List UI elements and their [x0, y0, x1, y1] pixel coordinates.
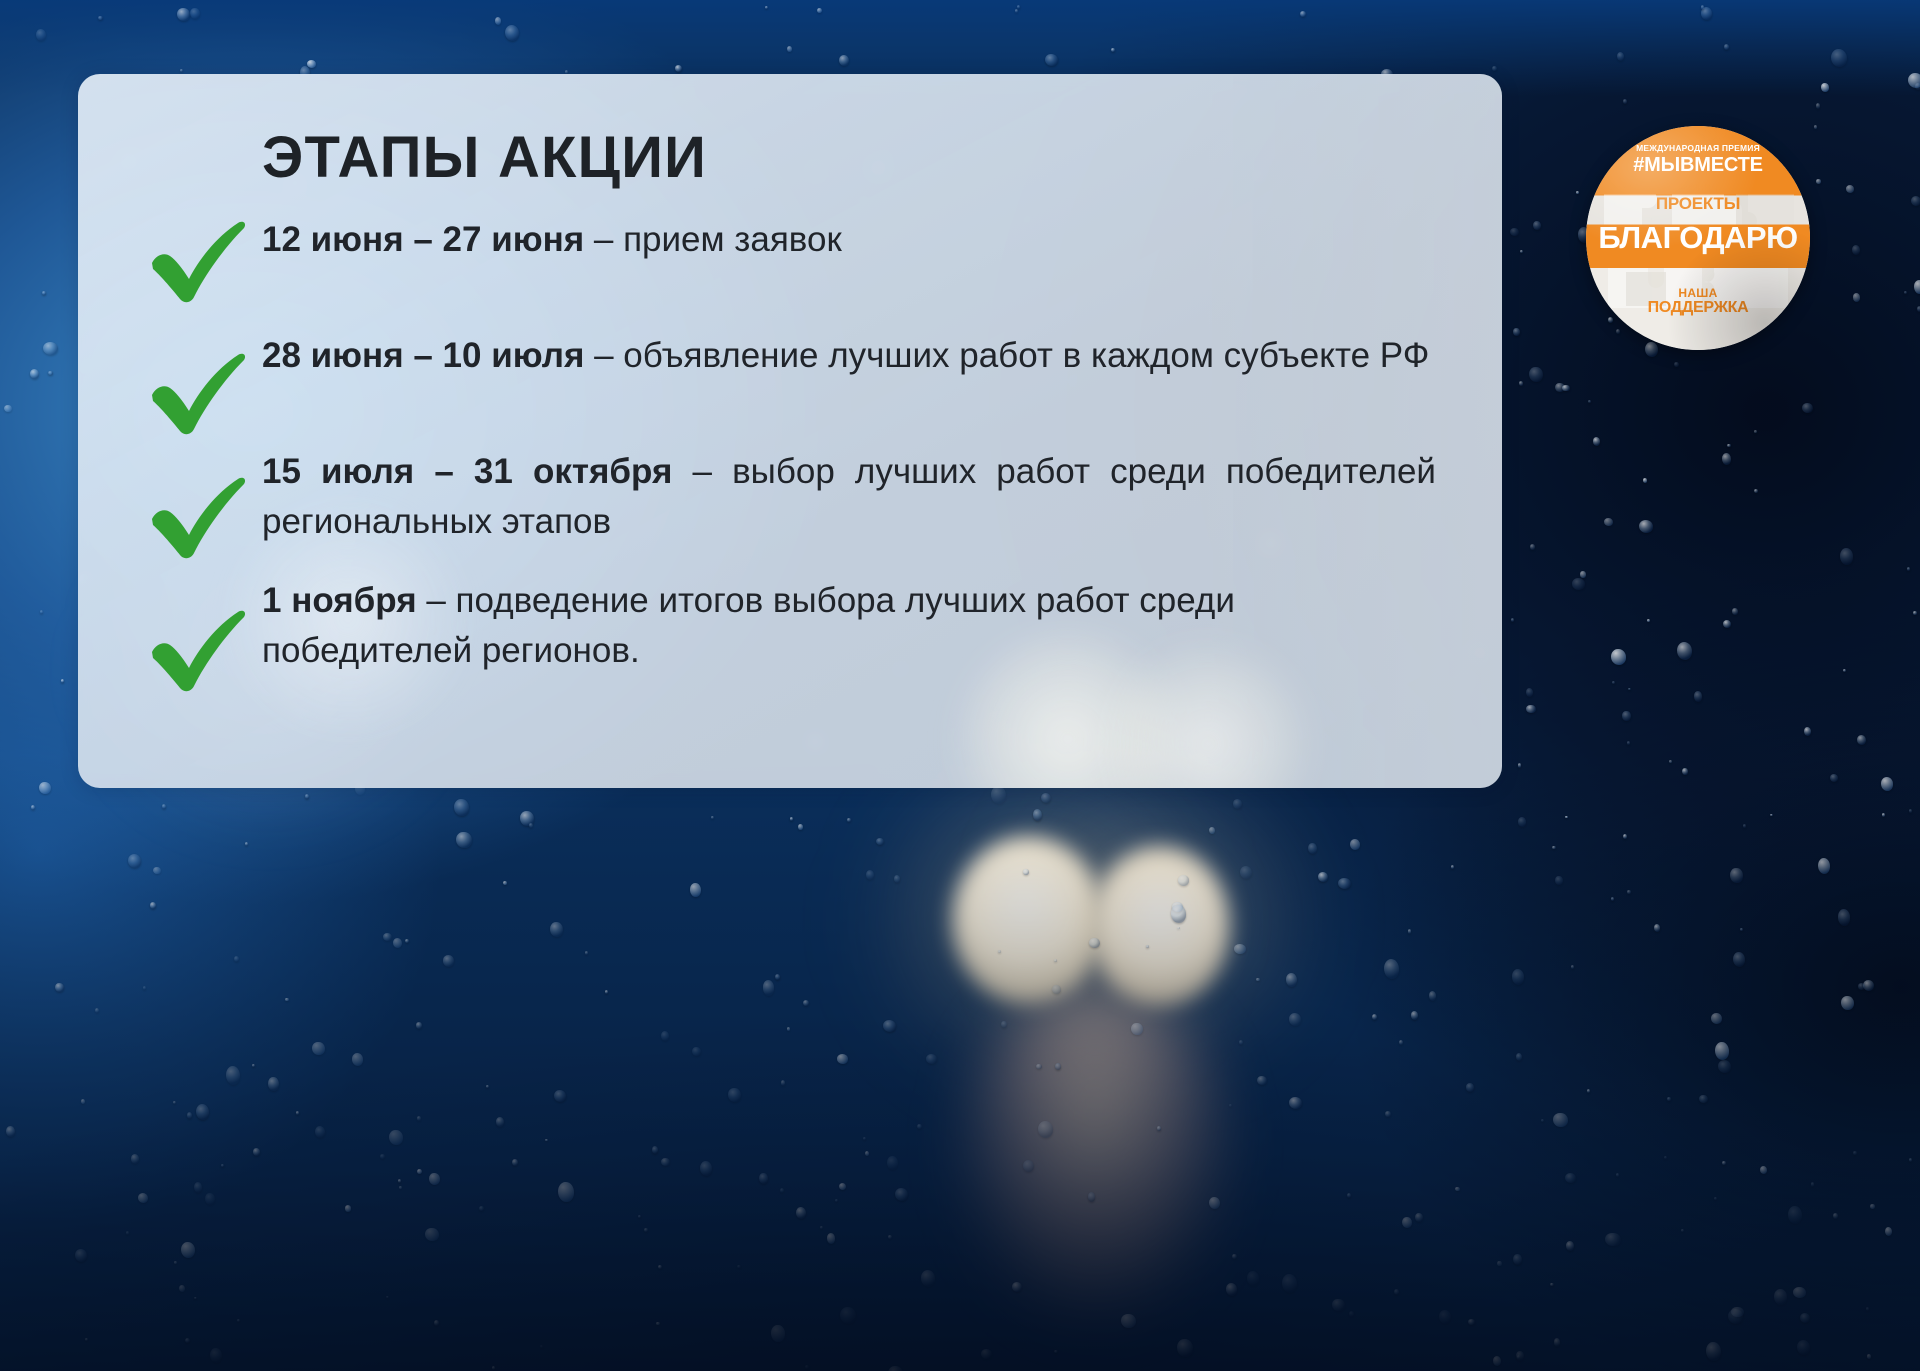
stages-list: 12 июня – 27 июня – прием заявок 28 июня… [140, 215, 1440, 676]
page-title: ЭТАПЫ АКЦИИ [262, 128, 1440, 189]
badge-premia-label: МЕЖДУНАРОДНАЯ ПРЕМИЯ [1586, 144, 1810, 153]
badge-proekty-label: ПРОЕКТЫ [1586, 195, 1810, 212]
badge-myvmeste-label: #МЫВМЕСТЕ [1586, 155, 1810, 175]
list-item-text: 1 ноября – подведение итогов выбора лучш… [262, 576, 1440, 675]
step-dates: 15 июля – 31 октября [262, 452, 672, 491]
list-item-text: 12 июня – 27 июня – прием заявок [262, 215, 1440, 265]
step-description: – прием заявок [584, 220, 842, 259]
green-check-icon [146, 598, 250, 694]
green-check-icon [146, 341, 250, 437]
list-item: 1 ноября – подведение итогов выбора лучш… [140, 576, 1440, 675]
step-description: – объявление лучших работ в каждом субъе… [584, 336, 1429, 375]
step-dates: 28 июня – 10 июля [262, 336, 584, 375]
stages-card: ЭТАПЫ АКЦИИ 12 июня – 27 июня – прием за… [78, 74, 1502, 788]
badge-podderzhka-label: ПОДДЕРЖКА [1586, 300, 1810, 316]
list-item: 28 июня – 10 июля – объявление лучших ра… [140, 331, 1440, 417]
step-dates: 12 июня – 27 июня [262, 220, 584, 259]
list-item-text: 15 июля – 31 октября – выбор лучших рабо… [262, 447, 1440, 546]
green-check-icon [146, 465, 250, 561]
list-item: 12 июня – 27 июня – прием заявок [140, 215, 1440, 301]
list-item: 15 июля – 31 октября – выбор лучших рабо… [140, 447, 1440, 546]
list-item-text: 28 июня – 10 июля – объявление лучших ра… [262, 331, 1440, 381]
badge-nasha-label: НАША [1586, 287, 1810, 299]
badge-blagodaryu-label: БЛАГОДАРЮ [1586, 222, 1810, 253]
step-dates: 1 ноября [262, 581, 417, 620]
poster-canvas: ЭТАПЫ АКЦИИ 12 июня – 27 июня – прием за… [0, 0, 1920, 1371]
green-check-icon [146, 209, 250, 305]
blagodaryu-award-badge: МЕЖДУНАРОДНАЯ ПРЕМИЯ #МЫВМЕСТЕ ВАШИ ПРОЕ… [1586, 126, 1810, 350]
badge-vashi-label: ВАШИ [1586, 182, 1810, 194]
